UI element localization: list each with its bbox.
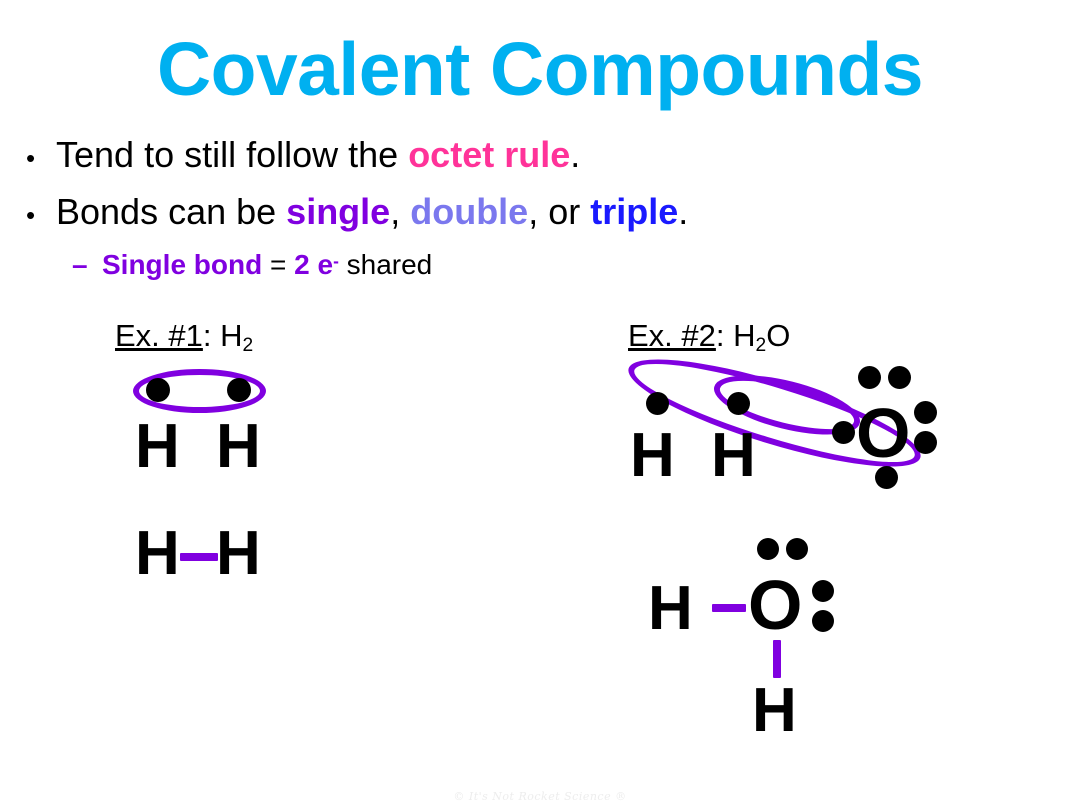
bullet-2-part-0: Bonds can be [56, 191, 286, 232]
subbullet-electrons: 2 e [294, 249, 333, 280]
electron-dot [786, 538, 808, 560]
bullet-1-part-0: Tend to still follow the [56, 134, 408, 175]
bullet-text: Tend to still follow the octet rule. [56, 134, 580, 176]
bond-line-single [712, 604, 746, 612]
bullet-text: Bonds can be single, double, or triple. [56, 191, 688, 233]
example-2-label: Ex. #2: H2O [628, 318, 790, 354]
bullet-item-bond-types: • Bonds can be single, double, or triple… [26, 191, 688, 233]
electron-dot [812, 580, 834, 602]
atom-symbol-h: H [648, 578, 693, 640]
bullet-2-part-single: single [286, 191, 390, 232]
example-2-label-underlined: Ex. #2 [628, 318, 716, 353]
example-1-label-subscript: 2 [243, 335, 254, 356]
electron-dot [646, 392, 669, 415]
bullet-2-part-6: . [678, 191, 688, 232]
example-1-label-underlined: Ex. #1 [115, 318, 203, 353]
electron-dot [227, 378, 251, 402]
electron-dot [888, 366, 911, 389]
electron-dot [832, 421, 855, 444]
bullet-1-part-2: . [570, 134, 580, 175]
dash-marker-icon: – [72, 249, 102, 281]
bullet-marker-icon: • [26, 202, 56, 228]
slide: Covalent Compounds • Tend to still follo… [0, 0, 1080, 810]
electron-dot [146, 378, 170, 402]
subbullet-single-bond: – Single bond = 2 e- shared [72, 249, 432, 281]
atom-symbol-h: H [216, 523, 261, 585]
example-2-label-rest: : H [716, 318, 756, 353]
example-1-label: Ex. #1: H2 [115, 318, 253, 354]
electron-dot [812, 610, 834, 632]
example-1-label-rest: : H [203, 318, 243, 353]
electron-dot [914, 401, 937, 424]
subbullet-electron-charge: - [333, 251, 339, 271]
subbullet-equals: = [262, 249, 294, 280]
atom-symbol-h: H [135, 523, 180, 585]
bullet-2-part-double: double [410, 191, 528, 232]
subbullet-text: Single bond = 2 e- shared [102, 249, 432, 281]
electron-dot [727, 392, 750, 415]
bullet-2-part-triple: triple [590, 191, 678, 232]
page-title: Covalent Compounds [0, 32, 1080, 107]
electron-dot [858, 366, 881, 389]
atom-symbol-h: H [135, 416, 180, 478]
bullet-marker-icon: • [26, 145, 56, 171]
atom-symbol-h: H [216, 416, 261, 478]
subbullet-trailing: shared [339, 249, 432, 280]
subbullet-label: Single bond [102, 249, 262, 280]
bullet-1-part-octet-rule: octet rule [408, 134, 570, 175]
atom-symbol-o: O [748, 570, 802, 640]
atom-symbol-h: H [630, 425, 675, 487]
example-2-label-suffix: O [766, 318, 790, 353]
bond-line-single [773, 640, 781, 678]
example-2-label-subscript: 2 [756, 335, 767, 356]
electron-dot [914, 431, 937, 454]
electron-dot [757, 538, 779, 560]
bullet-2-part-2: , [390, 191, 410, 232]
atom-symbol-h: H [752, 680, 797, 742]
atom-symbol-o: O [856, 398, 910, 468]
bond-line-single [180, 553, 218, 561]
footer-watermark: © It's Not Rocket Science ® [0, 790, 1080, 803]
bullet-item-octet-rule: • Tend to still follow the octet rule. [26, 134, 580, 176]
bullet-2-part-4: , or [528, 191, 590, 232]
atom-symbol-h: H [711, 425, 756, 487]
